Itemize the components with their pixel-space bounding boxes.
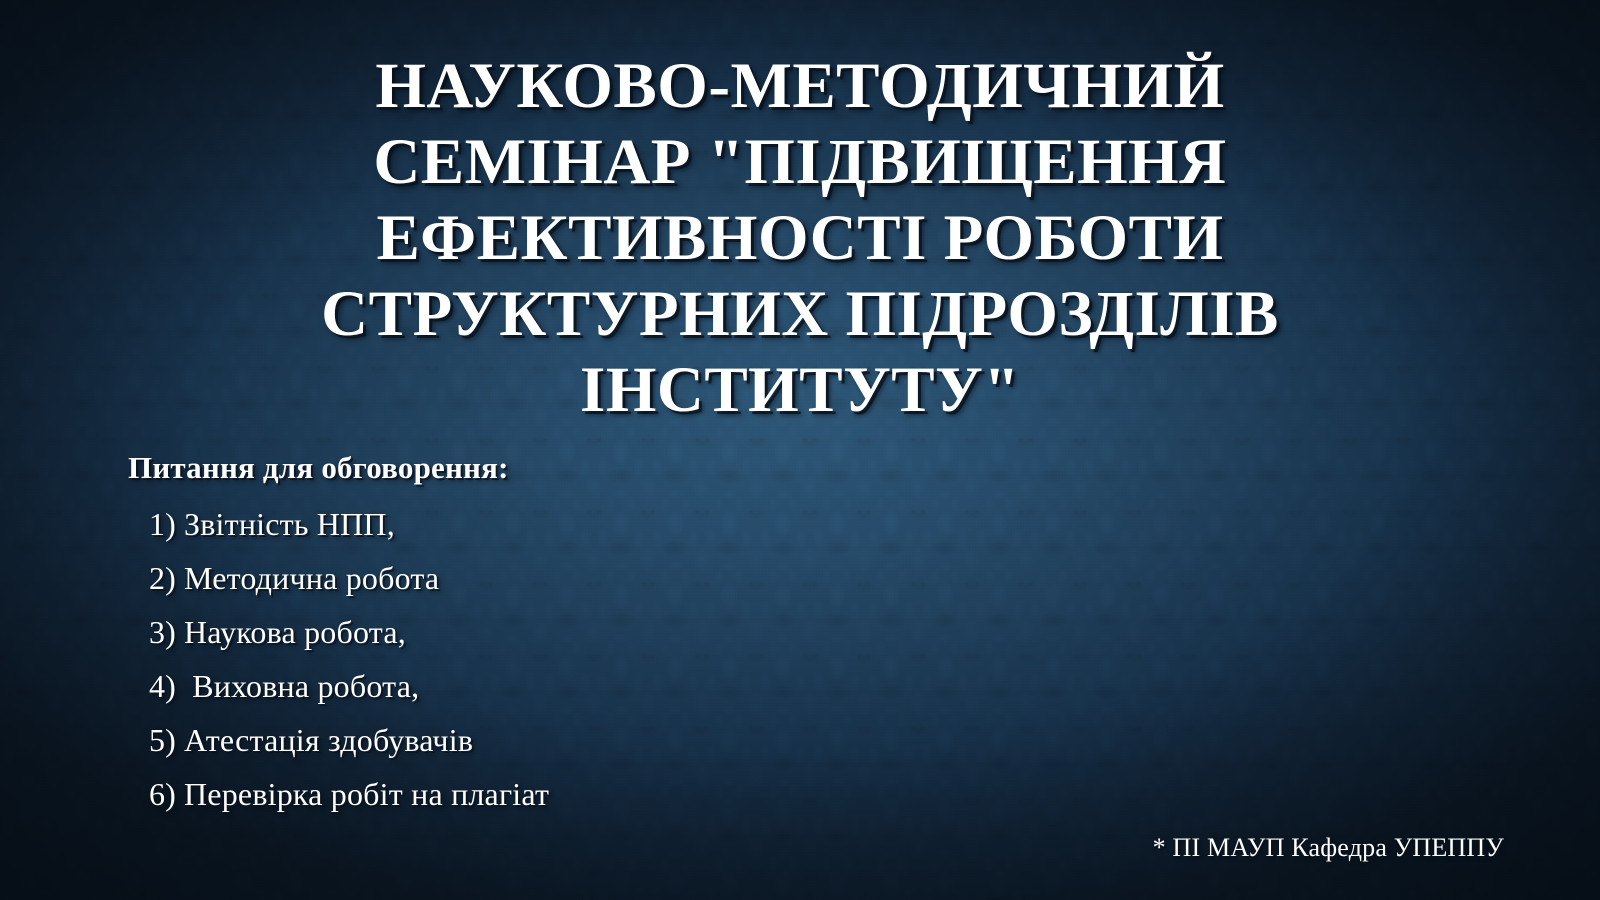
list-item-label: Атестація здобувачів [184,713,473,767]
slide-title-line-3: ЕФЕКТИВНОСТІ РОБОТИ [150,200,1450,276]
list-item: 2) Методична робота [128,551,1028,605]
slide-body: Питання для обговорення: 1) Звітність НП… [128,450,1028,821]
list-item-label: Виховна робота, [184,659,419,713]
list-item: 1) Звітність НПП, [128,497,1028,551]
slide-title-line-5: ІНСТИТУТУ" [150,352,1450,428]
agenda-heading: Питання для обговорення: [128,450,1028,486]
presentation-slide: НАУКОВО-МЕТОДИЧНИЙ СЕМІНАР "ПІДВИЩЕННЯ Е… [0,0,1600,900]
list-item: 3) Наукова робота, [128,605,1028,659]
list-item-marker: 1) [128,497,184,551]
list-item-label: Перевірка робіт на плагіат [184,767,549,821]
list-item-label: Методична робота [184,551,439,605]
list-item-marker: 6) [128,767,184,821]
list-item-marker: 4) [128,659,184,713]
slide-title: НАУКОВО-МЕТОДИЧНИЙ СЕМІНАР "ПІДВИЩЕННЯ Е… [150,48,1450,428]
list-item-marker: 2) [128,551,184,605]
slide-footer-attribution: * ПІ МАУП Кафедра УПЕППУ [1153,832,1504,864]
list-item-marker: 3) [128,605,184,659]
list-item: 5) Атестація здобувачів [128,713,1028,767]
slide-title-line-1: НАУКОВО-МЕТОДИЧНИЙ [150,48,1450,124]
list-item-label: Звітність НПП, [184,497,395,551]
list-item-marker: 5) [128,713,184,767]
list-item-label: Наукова робота, [184,605,406,659]
agenda-list: 1) Звітність НПП, 2) Методична робота 3)… [128,497,1028,821]
slide-title-line-2: СЕМІНАР "ПІДВИЩЕННЯ [150,124,1450,200]
slide-title-line-4: СТРУКТУРНИХ ПІДРОЗДІЛІВ [150,276,1450,352]
list-item: 4) Виховна робота, [128,659,1028,713]
list-item: 6) Перевірка робіт на плагіат [128,767,1028,821]
